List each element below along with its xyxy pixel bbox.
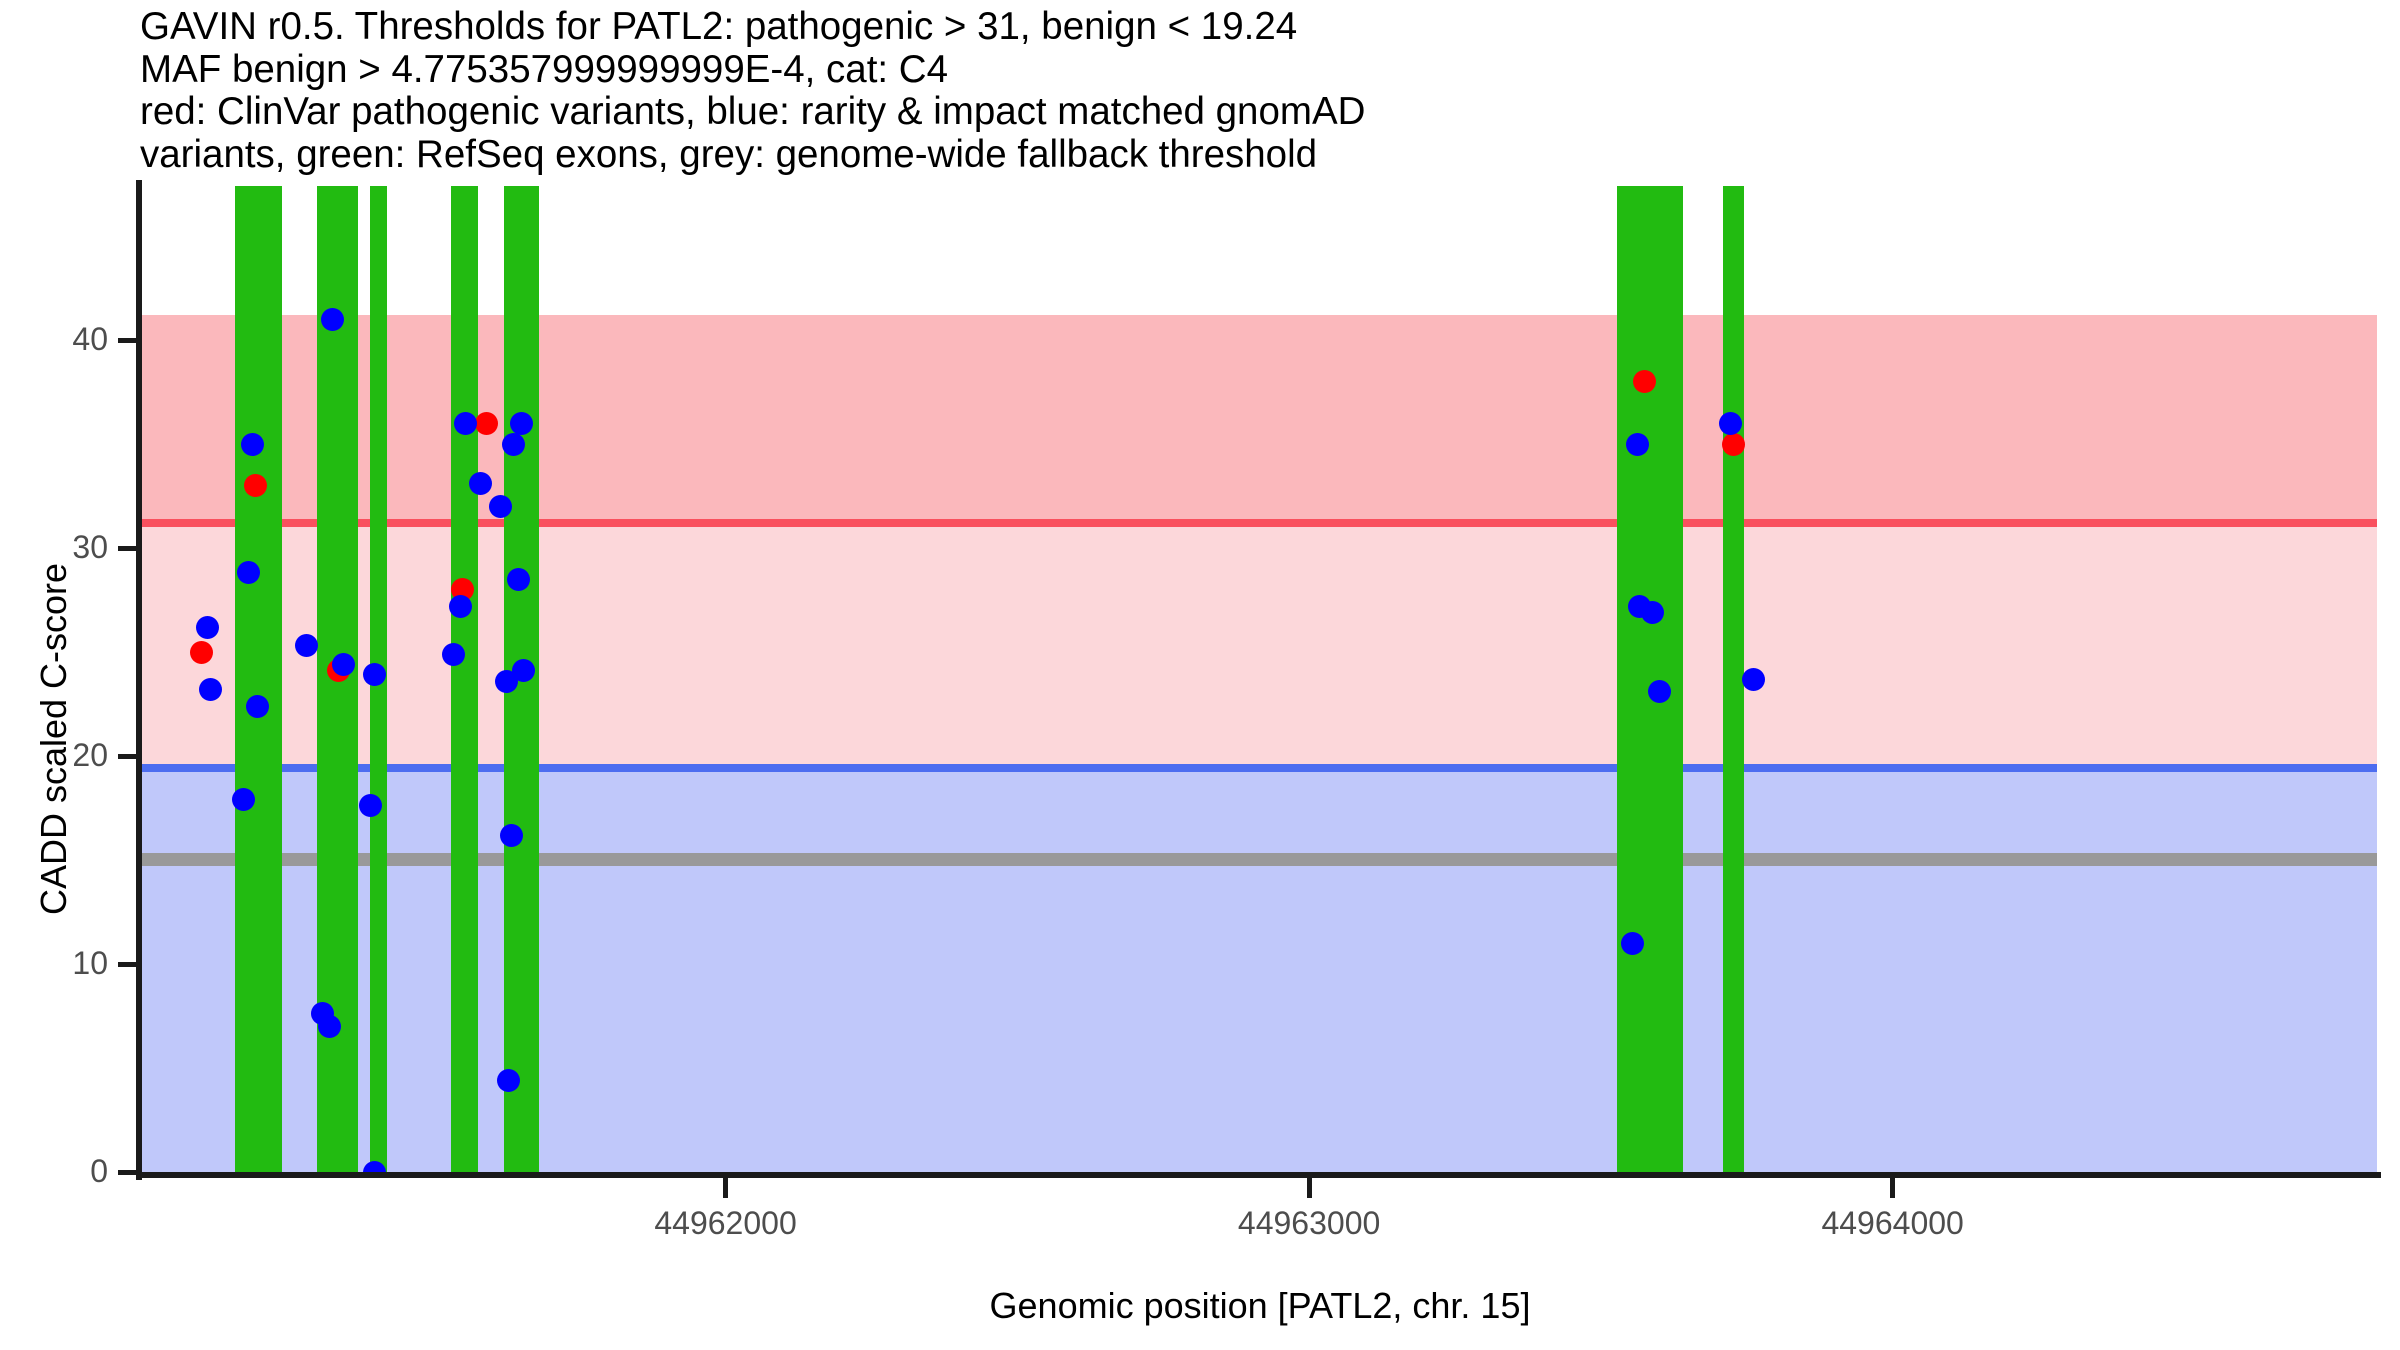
- y-axis-tick-mark: [118, 754, 138, 759]
- x-axis-line: [136, 1172, 2381, 1178]
- gnomad-variant-point: [1626, 433, 1649, 456]
- x-axis-tick-mark: [1307, 1178, 1312, 1198]
- gnomad-variant-point: [1742, 668, 1765, 691]
- y-axis-tick-mark: [118, 962, 138, 967]
- plot-area: [142, 186, 2377, 1172]
- gnomad-variant-point: [442, 643, 465, 666]
- gnomad-variant-point: [332, 653, 355, 676]
- gnomad-variant-point: [241, 433, 264, 456]
- gnomad-variant-point: [321, 308, 344, 331]
- y-axis-line: [136, 180, 142, 1180]
- clinvar-variant-point: [190, 641, 213, 664]
- x-axis-tick-label: 44964000: [1763, 1205, 2023, 1242]
- title-line-1: GAVIN r0.5. Thresholds for PATL2: pathog…: [140, 6, 2380, 49]
- gnomad-variant-point: [359, 794, 382, 817]
- gnomad-variant-point: [502, 433, 525, 456]
- gnomad-variant-point: [246, 695, 269, 718]
- x-axis-tick-mark: [723, 1178, 728, 1198]
- chart-title-block: GAVIN r0.5. Thresholds for PATL2: pathog…: [140, 6, 2380, 176]
- gnomad-variant-point: [1648, 680, 1671, 703]
- plot-panel: [142, 186, 2377, 1172]
- gnomad-variant-point: [497, 1069, 520, 1092]
- y-axis-title: CADD scaled C-score: [33, 299, 75, 1179]
- title-line-3: red: ClinVar pathogenic variants, blue: …: [140, 91, 2380, 134]
- clinvar-variant-point: [1722, 433, 1745, 456]
- chart-root: GAVIN r0.5. Thresholds for PATL2: pathog…: [0, 0, 2400, 1350]
- x-axis-tick-mark: [1890, 1178, 1895, 1198]
- y-axis-tick-mark: [118, 1170, 138, 1175]
- x-axis-tick-label: 44962000: [596, 1205, 856, 1242]
- refseq-exon-bar: [1617, 186, 1683, 1172]
- title-line-2: MAF benign > 4.775357999999999E-4, cat: …: [140, 49, 2380, 92]
- refseq-exon-bar: [1723, 186, 1743, 1172]
- x-axis-title: Genomic position [PATL2, chr. 15]: [142, 1285, 2378, 1327]
- gnomad-variant-point: [510, 412, 533, 435]
- y-axis-tick-mark: [118, 338, 138, 343]
- x-axis-tick-label: 44963000: [1179, 1205, 1439, 1242]
- title-line-4: variants, green: RefSeq exons, grey: gen…: [140, 134, 2380, 177]
- y-axis-tick-mark: [118, 546, 138, 551]
- gnomad-variant-point: [454, 412, 477, 435]
- clinvar-variant-point: [475, 412, 498, 435]
- gnomad-variant-point: [196, 616, 219, 639]
- gnomad-variant-point: [318, 1015, 341, 1038]
- refseq-exon-bar: [235, 186, 282, 1172]
- refseq-exon-bar: [451, 186, 477, 1172]
- gnomad-variant-point: [449, 595, 472, 618]
- clinvar-variant-point: [244, 474, 267, 497]
- gnomad-variant-point: [363, 663, 386, 686]
- gnomad-variant-point: [1621, 932, 1644, 955]
- gnomad-variant-point: [500, 824, 523, 847]
- gnomad-variant-point: [469, 472, 492, 495]
- gnomad-variant-point: [1719, 412, 1742, 435]
